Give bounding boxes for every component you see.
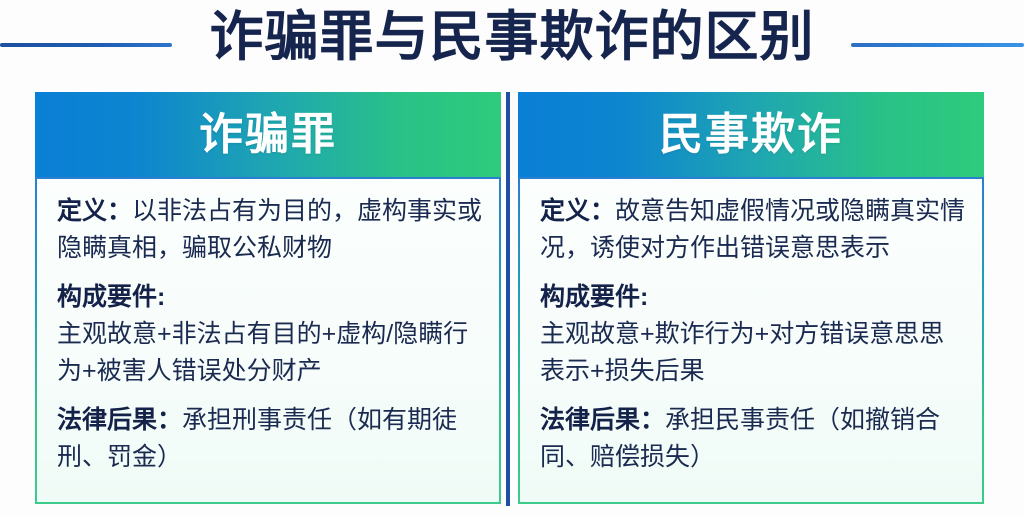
card-fraud-crime: 诈骗罪 定义：以非法占有为目的，虚构事实或隐瞒真相，骗取公私财物 构成要件: 主…: [35, 92, 501, 506]
section-label-legal-consequence: 法律后果：: [540, 406, 665, 434]
card-header-fraud-crime: 诈骗罪: [35, 92, 501, 177]
page-title: 诈骗罪与民事欺诈的区别: [0, 6, 1024, 68]
comparison-cards: 诈骗罪 定义：以非法占有为目的，虚构事实或隐瞒真相，骗取公私财物 构成要件: 主…: [0, 92, 1024, 508]
section-label-elements: 构成要件:: [57, 283, 165, 311]
section-label-legal-consequence: 法律后果：: [57, 406, 182, 434]
card-header-civil-fraud: 民事欺诈: [518, 92, 984, 177]
card-civil-fraud: 民事欺诈 定义：故意告知虚假情况或隐瞒真实情况，诱使对方作出错误意思表示 构成要…: [518, 92, 984, 506]
section-definition: 定义：故意告知虚假情况或隐瞒真实情况，诱使对方作出错误意思表示: [540, 193, 966, 267]
section-legal-consequence: 法律后果：承担刑事责任（如有期徒刑、罚金）: [57, 402, 483, 476]
section-text-elements: 主观故意+非法占有目的+虚构/隐瞒行为+被害人错误处分财产: [57, 316, 483, 390]
card-body-civil-fraud: 定义：故意告知虚假情况或隐瞒真实情况，诱使对方作出错误意思表示 构成要件: 主观…: [518, 177, 984, 504]
section-label-elements: 构成要件:: [540, 283, 648, 311]
card-title-civil-fraud: 民事欺诈: [659, 110, 843, 160]
card-body-fraud-crime: 定义：以非法占有为目的，虚构事实或隐瞒真相，骗取公私财物 构成要件: 主观故意+…: [35, 177, 501, 504]
section-elements: 构成要件: 主观故意+欺诈行为+对方错误意思思表示+损失后果: [540, 279, 966, 390]
section-text-elements: 主观故意+欺诈行为+对方错误意思思表示+损失后果: [540, 316, 966, 390]
cards-divider: [506, 92, 510, 506]
section-elements: 构成要件: 主观故意+非法占有目的+虚构/隐瞒行为+被害人错误处分财产: [57, 279, 483, 390]
slide-root: 诈骗罪与民事欺诈的区别 诈骗罪 定义：以非法占有为目的，虚构事实或隐瞒真相，骗取…: [0, 0, 1024, 516]
card-title-fraud-crime: 诈骗罪: [199, 110, 337, 160]
section-label-definition: 定义：: [57, 197, 132, 225]
section-definition: 定义：以非法占有为目的，虚构事实或隐瞒真相，骗取公私财物: [57, 193, 483, 267]
section-legal-consequence: 法律后果：承担民事责任（如撤销合同、赔偿损失）: [540, 402, 966, 476]
title-row: 诈骗罪与民事欺诈的区别: [0, 0, 1024, 88]
section-label-definition: 定义：: [540, 197, 615, 225]
